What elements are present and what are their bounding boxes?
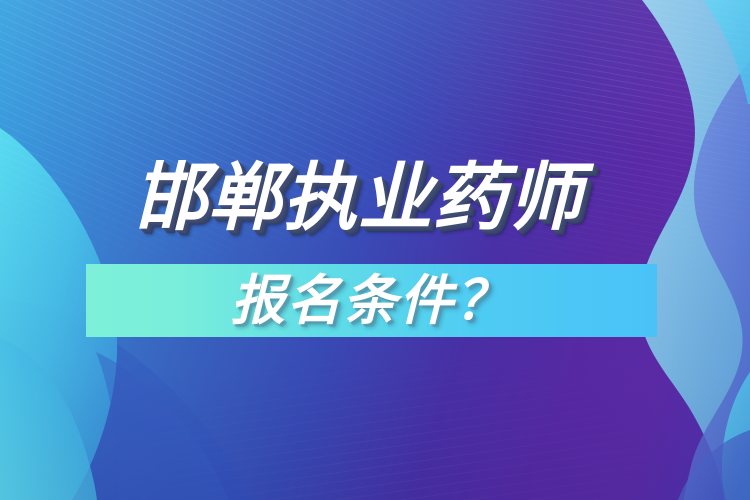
subtitle-highlight-bar: 报名条件？	[86, 264, 657, 337]
banner-headline: 邯郸执业药师	[133, 152, 583, 244]
banner-subtitle: 报名条件？	[231, 267, 511, 335]
promo-banner: 邯郸执业药师 报名条件？	[0, 0, 750, 500]
banner-content: 邯郸执业药师 报名条件？	[0, 0, 750, 500]
